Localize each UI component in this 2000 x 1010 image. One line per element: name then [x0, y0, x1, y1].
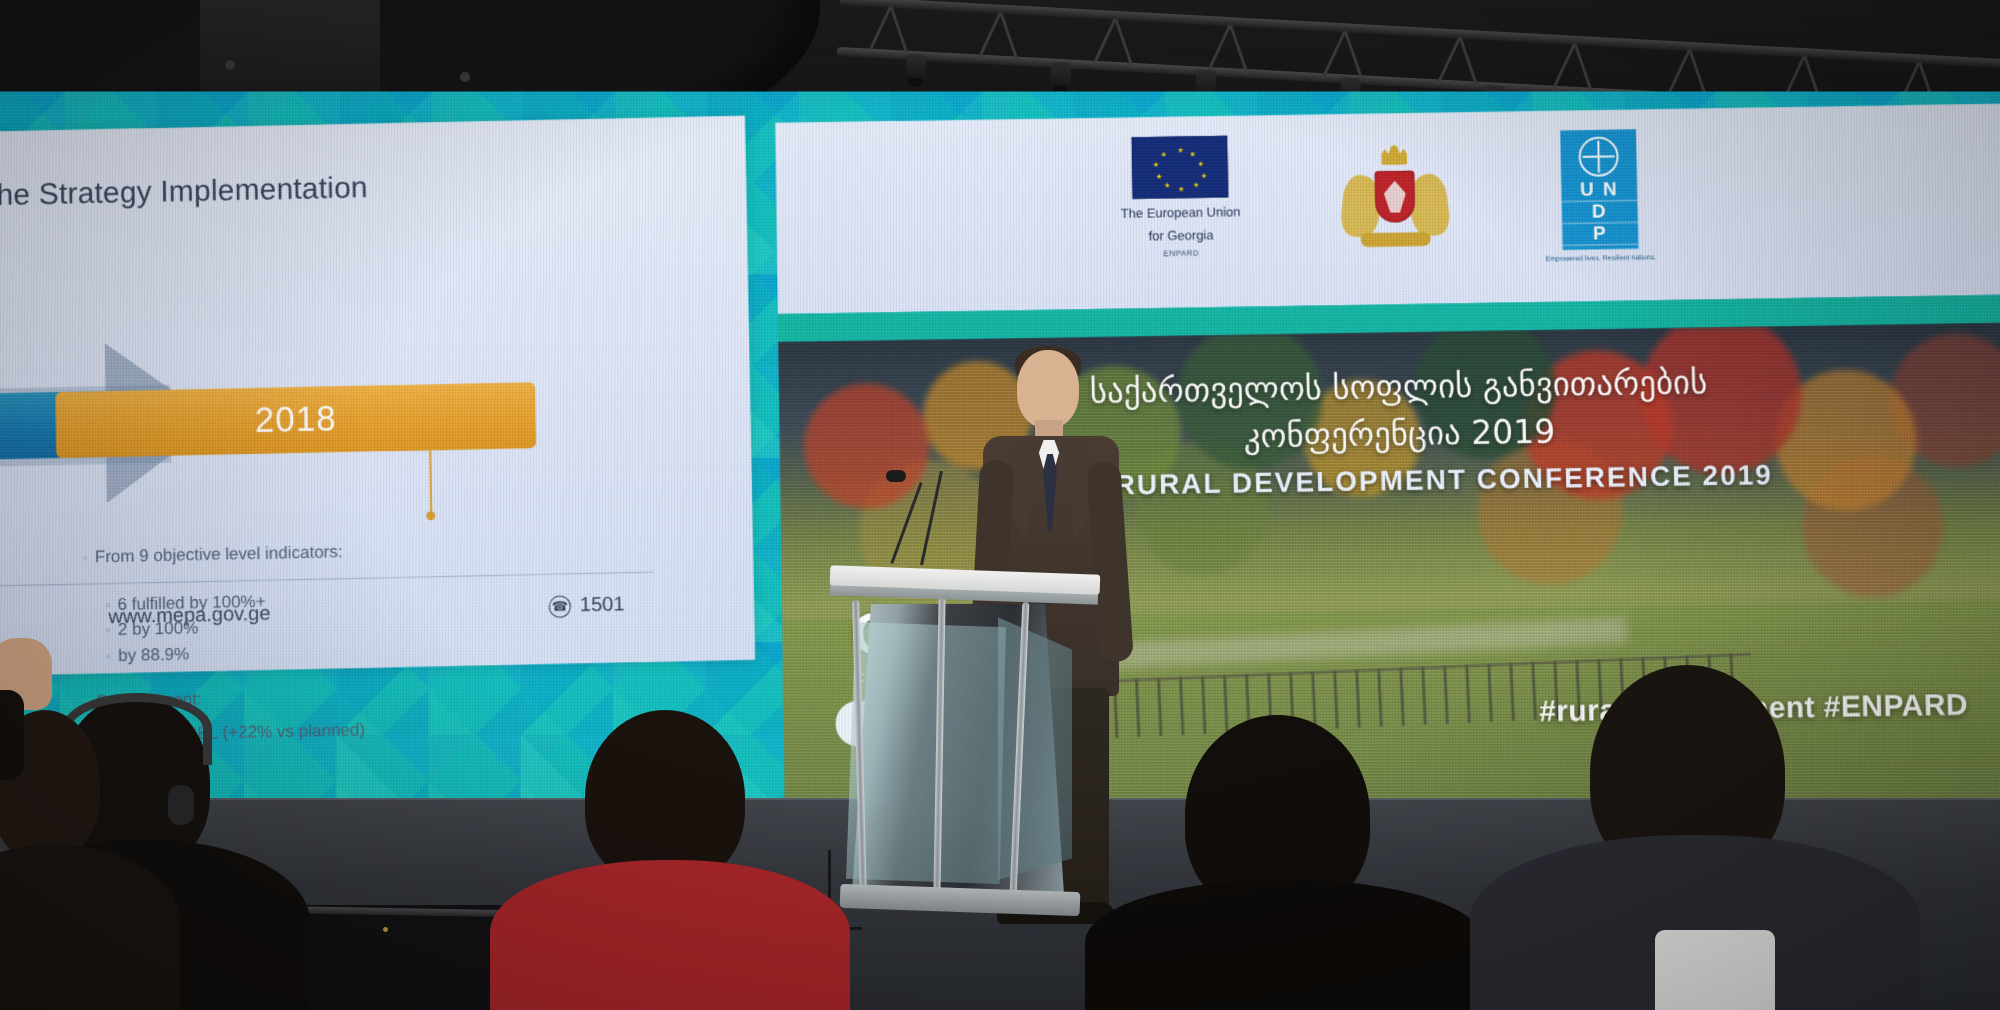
ribbon-icon: [1361, 232, 1431, 247]
lectern-glass-panel: [846, 622, 1006, 884]
truss-brace: [999, 12, 1019, 62]
truss-brace: [1344, 31, 1364, 81]
lectern: [840, 570, 1110, 930]
georgia-coat-of-arms-icon: [1319, 132, 1471, 274]
truss-brace: [867, 6, 892, 54]
eu-logo: The European Union for Georgia ENPARD: [1105, 135, 1257, 258]
truss-brace: [1551, 43, 1576, 91]
truss-brace: [1207, 24, 1232, 72]
leader-line-2018: [429, 450, 432, 514]
footer-phone-number: 1501: [580, 593, 625, 617]
undp-letter-row: P: [1562, 223, 1638, 246]
leader-dot-2018: [426, 511, 435, 520]
truss-brace: [1574, 43, 1594, 93]
globe-icon: [1578, 136, 1619, 176]
audience-head: [585, 710, 745, 885]
slide-title: ults of the Strategy Implementation: [0, 171, 368, 215]
headphone-earcup: [168, 785, 194, 825]
footer-website: www.mepa.gov.ge: [108, 603, 270, 629]
undp-letter-row: U N: [1561, 179, 1637, 202]
speaker-head: [1017, 350, 1079, 428]
barrier-stud: [383, 927, 388, 932]
stage-spotlight: [905, 54, 926, 81]
ceiling-vent-dot: [460, 72, 470, 82]
column-2018-header: From 9 objective level indicators:: [82, 534, 583, 570]
audience-shirt-collar: [1655, 930, 1775, 1010]
truss-brace: [1229, 25, 1249, 75]
truss-brace: [1114, 18, 1134, 68]
year-label-2018: 2018: [255, 399, 337, 441]
stage-spotlight: [1050, 62, 1071, 89]
eu-logo-line2: for Georgia: [1106, 227, 1256, 246]
undp-letter-row: D: [1562, 201, 1638, 224]
eu-logo-line1: The European Union: [1106, 204, 1256, 223]
eu-flag-icon: [1131, 136, 1228, 199]
scene-root: ults of the Strategy Implementation 2017…: [0, 0, 2000, 1010]
truss-brace: [1092, 18, 1117, 66]
crown-icon: [1381, 145, 1407, 165]
undp-caption: Empowered lives. Resilient nations.: [1536, 253, 1666, 264]
shield-icon: [1374, 171, 1415, 223]
conference-title-georgian: საქართველოს სოფლის განვითარების კონფერენ…: [779, 354, 2000, 467]
ceiling-vent-dot: [225, 60, 235, 70]
truss-brace: [1436, 37, 1461, 85]
undp-logo-icon: U N D P: [1560, 129, 1638, 250]
footer-phone: ☎ 1501: [549, 593, 625, 618]
year-bar-2018: 2018: [55, 382, 536, 458]
truss-brace: [1321, 31, 1346, 79]
logo-row: The European Union for Georgia ENPARD: [1105, 129, 1667, 287]
audience-shoulders: [1085, 880, 1485, 1010]
presentation-slide-left: ults of the Strategy Implementation 2017…: [0, 116, 755, 681]
audience-arm: [0, 690, 24, 780]
phone-icon: ☎: [549, 595, 571, 618]
lectern-side-panel: [998, 612, 1072, 880]
truss-brace: [890, 6, 910, 56]
truss-brace: [1459, 37, 1479, 87]
audience-shoulders-red: [490, 860, 850, 1010]
truss-brace: [977, 12, 1002, 60]
undp-logo: U N D P Empowered lives. Resilient natio…: [1533, 129, 1665, 264]
microphone-head: [886, 470, 906, 482]
eu-logo-line3: ENPARD: [1106, 247, 1256, 258]
